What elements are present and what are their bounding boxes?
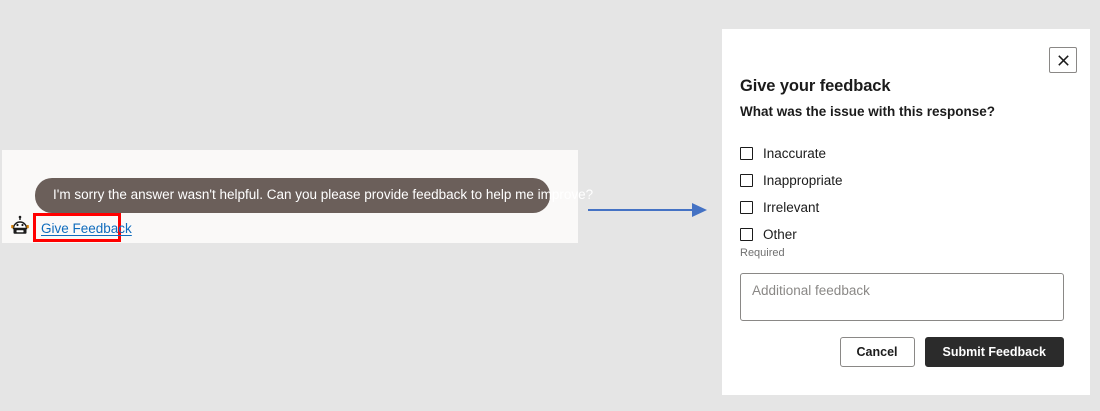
right-arrow-icon <box>588 198 708 222</box>
dialog-title: Give your feedback <box>740 77 890 96</box>
close-button[interactable] <box>1049 47 1077 73</box>
chat-panel: I'm sorry the answer wasn't helpful. Can… <box>2 150 578 243</box>
checkbox-inaccurate[interactable] <box>740 147 753 160</box>
option-label-irrelevant: Irrelevant <box>763 200 819 215</box>
option-label-other: Other <box>763 227 797 242</box>
option-label-inaccurate: Inaccurate <box>763 146 826 161</box>
required-note: Required <box>740 247 785 259</box>
checkbox-irrelevant[interactable] <box>740 201 753 214</box>
cancel-button[interactable]: Cancel <box>840 337 915 367</box>
give-feedback-highlight-box: Give Feedback <box>33 213 121 242</box>
option-label-inappropriate: Inappropriate <box>763 173 843 188</box>
checkbox-other[interactable] <box>740 228 753 241</box>
option-irrelevant[interactable]: Irrelevant <box>740 194 1060 221</box>
additional-feedback-input[interactable] <box>740 273 1064 321</box>
dialog-question: What was the issue with this response? <box>740 104 995 119</box>
bot-avatar-icon <box>9 215 31 237</box>
bot-message-text: I'm sorry the answer wasn't helpful. Can… <box>53 187 593 203</box>
give-feedback-link[interactable]: Give Feedback <box>41 221 132 236</box>
option-other[interactable]: Other <box>740 221 1060 248</box>
submit-feedback-button[interactable]: Submit Feedback <box>925 337 1065 367</box>
checkbox-inappropriate[interactable] <box>740 174 753 187</box>
option-inappropriate[interactable]: Inappropriate <box>740 167 1060 194</box>
option-inaccurate[interactable]: Inaccurate <box>740 140 1060 167</box>
bot-message-bubble: I'm sorry the answer wasn't helpful. Can… <box>35 178 550 213</box>
issue-options-group: Inaccurate Inappropriate Irrelevant Othe… <box>740 140 1060 248</box>
dialog-actions: Cancel Submit Feedback <box>740 337 1064 367</box>
close-icon <box>1058 55 1069 66</box>
feedback-dialog: Give your feedback What was the issue wi… <box>722 29 1090 395</box>
